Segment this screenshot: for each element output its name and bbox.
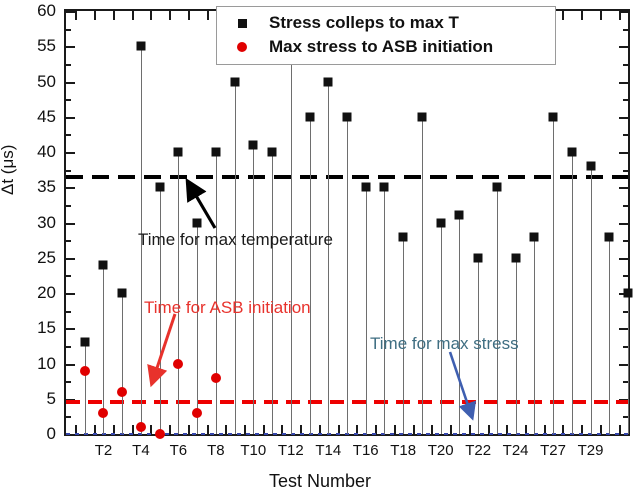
- y-tick-major-right: [619, 82, 628, 84]
- legend: Stress colleps to max T Max stress to AS…: [216, 6, 556, 65]
- data-point-stress-colleps: [118, 289, 127, 298]
- y-tick-major-right: [619, 364, 628, 366]
- y-tick-minor: [66, 346, 71, 348]
- y-tick-major: [66, 328, 75, 330]
- data-point-stress-colleps: [324, 77, 333, 86]
- x-tick-top: [75, 11, 77, 20]
- data-stem: [197, 223, 198, 435]
- data-point-stress-colleps: [230, 77, 239, 86]
- y-tick-minor: [66, 134, 71, 136]
- y-tick-major: [66, 258, 75, 260]
- x-tick-top: [150, 11, 152, 20]
- y-tick-minor: [66, 29, 71, 31]
- data-point-stress-colleps: [511, 253, 520, 262]
- y-tick-major: [66, 293, 75, 295]
- y-tick-major-right: [619, 223, 628, 225]
- data-stem: [235, 82, 236, 435]
- data-stem: [441, 223, 442, 435]
- y-tick-major-right: [619, 117, 628, 119]
- y-tick-major: [66, 364, 75, 366]
- y-tick-label: 40: [12, 142, 56, 162]
- y-tick-minor: [66, 64, 71, 66]
- data-stem: [534, 237, 535, 434]
- data-point-stress-colleps: [211, 148, 220, 157]
- legend-label-stress-colleps: Stress colleps to max T: [259, 13, 459, 33]
- data-point-stress-colleps: [474, 253, 483, 262]
- y-tick-minor: [66, 170, 71, 172]
- data-point-stress-colleps: [268, 148, 277, 157]
- data-point-stress-colleps: [80, 338, 89, 347]
- x-tick-top: [600, 11, 602, 20]
- y-tick-label: 15: [12, 318, 56, 338]
- y-tick-minor: [66, 205, 71, 207]
- y-tick-minor: [66, 311, 71, 313]
- legend-item-max-stress: Max stress to ASB initiation: [225, 35, 547, 59]
- x-tick-top: [562, 11, 564, 20]
- legend-item-stress-colleps: Stress colleps to max T: [225, 11, 547, 35]
- x-tick-label: T29: [568, 442, 614, 459]
- annotation-asb-initiation: Time for ASB initiation: [144, 298, 311, 318]
- legend-label-max-stress: Max stress to ASB initiation: [259, 37, 493, 57]
- data-point-max-stress: [155, 429, 165, 439]
- y-tick-label: 45: [12, 107, 56, 127]
- y-tick-major: [66, 223, 75, 225]
- x-tick-top: [113, 11, 115, 20]
- x-tick-top: [132, 11, 134, 20]
- data-stem: [572, 152, 573, 434]
- y-tick-minor: [66, 275, 71, 277]
- y-tick-major-right: [619, 46, 628, 48]
- data-point-max-stress: [98, 408, 108, 418]
- data-stem: [178, 152, 179, 434]
- y-tick-minor: [66, 416, 71, 418]
- data-point-stress-colleps: [605, 232, 614, 241]
- y-tick-minor-right: [623, 134, 628, 136]
- data-point-stress-colleps: [174, 148, 183, 157]
- x-tick-top: [619, 11, 621, 20]
- data-stem: [85, 342, 86, 434]
- data-point-stress-colleps: [417, 112, 426, 121]
- data-stem: [384, 187, 385, 434]
- y-tick-major: [66, 46, 75, 48]
- y-tick-minor-right: [623, 170, 628, 172]
- y-tick-major-right: [619, 258, 628, 260]
- y-tick-major-right: [619, 187, 628, 189]
- x-tick-top: [188, 11, 190, 20]
- y-tick-minor-right: [623, 240, 628, 242]
- data-stem: [422, 117, 423, 434]
- data-stem: [328, 82, 329, 435]
- y-tick-major: [66, 11, 75, 13]
- data-stem: [628, 293, 629, 434]
- data-point-max-stress: [192, 408, 202, 418]
- data-point-stress-colleps: [624, 289, 633, 298]
- y-tick-minor-right: [623, 64, 628, 66]
- data-point-max-stress: [136, 422, 146, 432]
- data-point-stress-colleps: [455, 211, 464, 220]
- data-point-stress-colleps: [399, 232, 408, 241]
- data-point-max-stress: [173, 359, 183, 369]
- x-tick-top: [581, 11, 583, 20]
- data-point-stress-colleps: [567, 148, 576, 157]
- data-point-stress-colleps: [99, 260, 108, 269]
- legend-square-marker-icon: [225, 19, 259, 28]
- data-point-stress-colleps: [380, 183, 389, 192]
- y-tick-label: 5: [12, 389, 56, 409]
- data-point-stress-colleps: [155, 183, 164, 192]
- y-tick-major-right: [619, 328, 628, 330]
- y-tick-minor: [66, 99, 71, 101]
- data-stem: [497, 187, 498, 434]
- data-point-stress-colleps: [436, 218, 445, 227]
- data-stem: [366, 187, 367, 434]
- data-point-max-stress: [80, 366, 90, 376]
- y-tick-minor-right: [623, 205, 628, 207]
- y-tick-minor: [66, 381, 71, 383]
- data-point-max-stress: [117, 387, 127, 397]
- y-tick-label: 30: [12, 213, 56, 233]
- y-tick-major: [66, 117, 75, 119]
- x-axis-title: Test Number: [0, 471, 640, 492]
- y-tick-major: [66, 152, 75, 154]
- y-tick-label: 35: [12, 177, 56, 197]
- data-stem: [272, 152, 273, 434]
- y-tick-label: 55: [12, 36, 56, 56]
- y-tick-label: 25: [12, 248, 56, 268]
- y-tick-major-right: [619, 152, 628, 154]
- x-tick-top: [94, 11, 96, 20]
- data-stem: [553, 117, 554, 434]
- data-point-stress-colleps: [361, 183, 370, 192]
- data-point-max-stress: [211, 373, 221, 383]
- legend-circle-marker-icon: [225, 42, 259, 52]
- y-tick-minor: [66, 240, 71, 242]
- annotation-max-stress: Time for max stress: [370, 334, 519, 354]
- y-tick-label: 0: [12, 424, 56, 444]
- data-point-stress-colleps: [343, 112, 352, 121]
- data-stem: [609, 237, 610, 434]
- data-stem: [591, 166, 592, 434]
- data-stem: [216, 152, 217, 434]
- data-stem: [310, 117, 311, 434]
- data-point-stress-colleps: [249, 140, 258, 149]
- y-tick-major: [66, 187, 75, 189]
- y-tick-minor-right: [623, 99, 628, 101]
- y-tick-label: 10: [12, 354, 56, 374]
- y-tick-label: 50: [12, 72, 56, 92]
- chart-figure: Δt (μs) 051015202530354045505560 T2T4T6T…: [0, 0, 640, 501]
- y-tick-label: 20: [12, 283, 56, 303]
- data-stem: [122, 293, 123, 434]
- data-point-stress-colleps: [193, 218, 202, 227]
- data-stem: [253, 145, 254, 434]
- data-point-stress-colleps: [549, 112, 558, 121]
- data-stem: [347, 117, 348, 434]
- data-point-stress-colleps: [530, 232, 539, 241]
- y-tick-label: 60: [12, 1, 56, 21]
- data-point-stress-colleps: [136, 42, 145, 51]
- y-tick-minor-right: [623, 29, 628, 31]
- data-point-stress-colleps: [492, 183, 501, 192]
- x-tick-top: [169, 11, 171, 20]
- plot-area: [64, 9, 630, 436]
- annotation-max-temperature: Time for max temperature: [138, 230, 333, 250]
- y-tick-minor-right: [623, 275, 628, 277]
- y-tick-major: [66, 82, 75, 84]
- x-tick-top: [207, 11, 209, 20]
- data-point-stress-colleps: [305, 112, 314, 121]
- data-stem: [459, 215, 460, 434]
- data-point-stress-colleps: [586, 162, 595, 171]
